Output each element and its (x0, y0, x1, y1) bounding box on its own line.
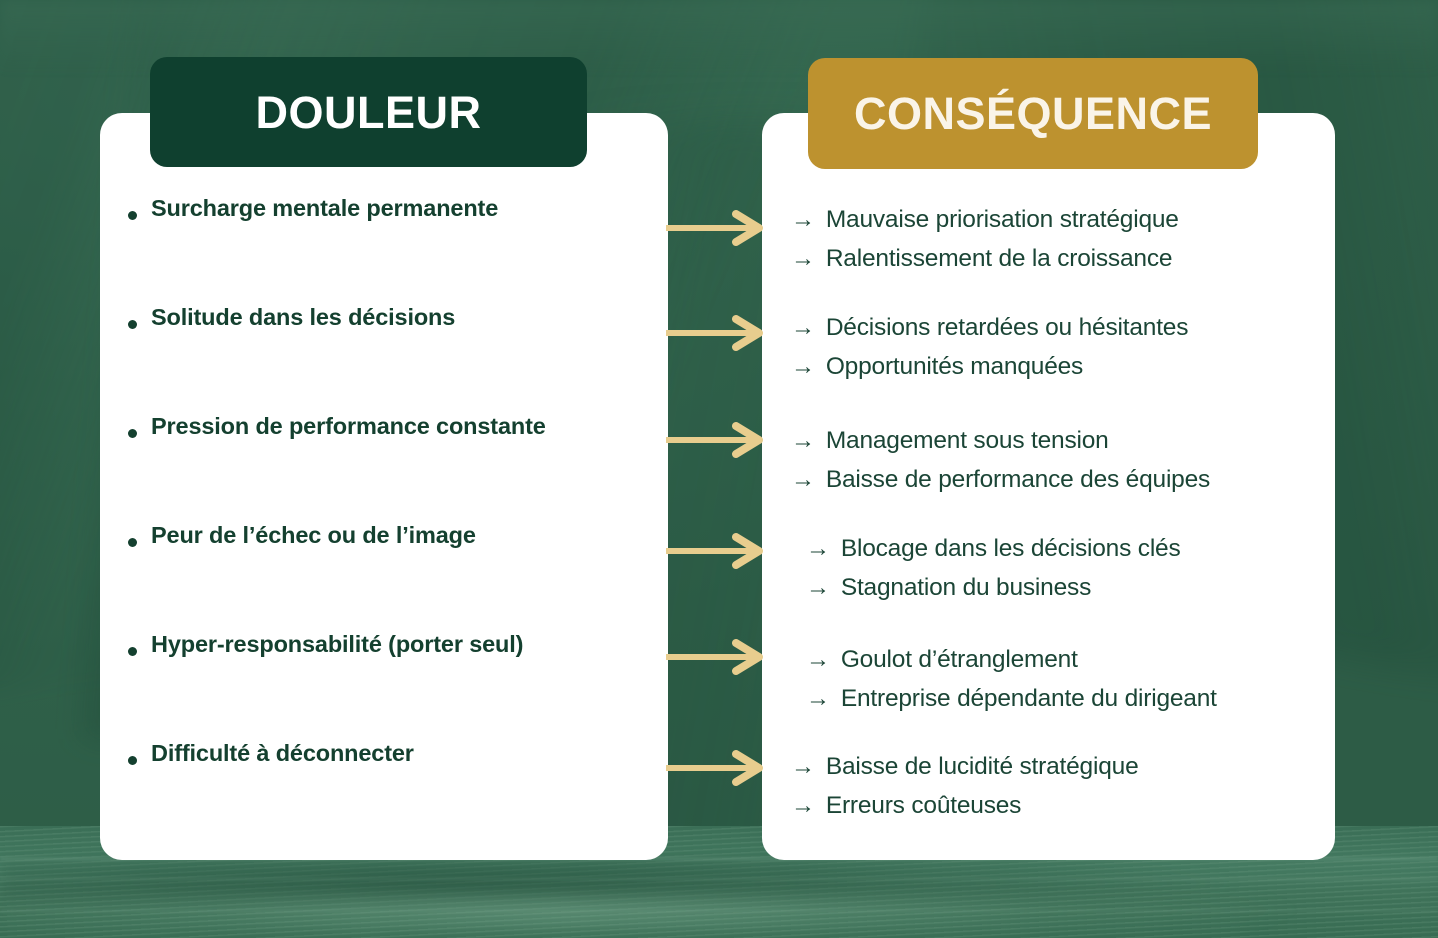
pain-item: Hyper-responsabilité (porter seul) (128, 632, 668, 741)
consequence-text: Ralentissement de la croissance (826, 239, 1173, 278)
arrow-right-icon: → (791, 460, 815, 499)
consequence-line: →Stagnation du business (806, 568, 1181, 607)
consequence-text: Baisse de performance des équipes (826, 460, 1210, 499)
consequence-line: →Blocage dans les décisions clés (806, 529, 1181, 568)
pain-item-label: Pression de performance constante (151, 414, 546, 440)
connector-arrow (666, 426, 759, 454)
pain-item-label: Hyper-responsabilité (porter seul) (151, 632, 523, 658)
consequence-text: Stagnation du business (841, 568, 1091, 607)
consequence-text: Blocage dans les décisions clés (841, 529, 1181, 568)
consequence-text: Opportunités manquées (826, 347, 1083, 386)
bullet-icon (128, 211, 137, 220)
consequence-line: →Baisse de performance des équipes (791, 460, 1210, 499)
connector-arrow (666, 214, 759, 242)
arrow-right-icon: → (791, 200, 815, 239)
pain-item: Surcharge mentale permanente (128, 196, 668, 305)
bullet-icon (128, 647, 137, 656)
consequence-line: →Management sous tension (791, 421, 1210, 460)
pain-item: Difficulté à déconnecter (128, 741, 668, 850)
connector-arrow (666, 643, 759, 671)
pain-header-badge: DOULEUR (150, 57, 587, 167)
pain-item-label: Surcharge mentale permanente (151, 196, 498, 222)
pain-item: Solitude dans les décisions (128, 305, 668, 414)
arrow-right-icon: → (791, 786, 815, 825)
consequence-text: Erreurs coûteuses (826, 786, 1021, 825)
consequence-line: →Erreurs coûteuses (791, 786, 1139, 825)
consequence-text: Baisse de lucidité stratégique (826, 747, 1139, 786)
consequence-group: →Décisions retardées ou hésitantes→Oppor… (791, 308, 1188, 386)
arrow-right-icon: → (806, 529, 830, 568)
bullet-icon (128, 756, 137, 765)
arrow-right-icon: → (791, 347, 815, 386)
consequence-text: Management sous tension (826, 421, 1109, 460)
bullet-icon (128, 429, 137, 438)
pain-item-label: Difficulté à déconnecter (151, 741, 414, 767)
arrow-right-icon: → (791, 239, 815, 278)
bullet-icon (128, 320, 137, 329)
consequence-line: →Ralentissement de la croissance (791, 239, 1179, 278)
consequence-line: →Entreprise dépendante du dirigeant (806, 679, 1217, 718)
consequence-group: →Goulot d’étranglement→Entreprise dépend… (806, 640, 1217, 718)
consequence-line: →Opportunités manquées (791, 347, 1188, 386)
consequence-header-label: CONSÉQUENCE (854, 91, 1212, 136)
consequence-group: →Blocage dans les décisions clés→Stagnat… (806, 529, 1181, 607)
pain-item-label: Peur de l’échec ou de l’image (151, 523, 476, 549)
bullet-icon (128, 538, 137, 547)
arrow-right-icon: → (806, 640, 830, 679)
connector-arrow (666, 754, 759, 782)
consequence-group: →Mauvaise priorisation stratégique→Ralen… (791, 200, 1179, 278)
consequence-text: Entreprise dépendante du dirigeant (841, 679, 1217, 718)
consequence-text: Mauvaise priorisation stratégique (826, 200, 1179, 239)
connector-arrow (666, 319, 759, 347)
consequence-line: →Décisions retardées ou hésitantes (791, 308, 1188, 347)
pain-item: Peur de l’échec ou de l’image (128, 523, 668, 632)
consequence-text: Goulot d’étranglement (841, 640, 1078, 679)
consequence-header-badge: CONSÉQUENCE (808, 58, 1258, 169)
consequence-group: →Baisse de lucidité stratégique→Erreurs … (791, 747, 1139, 825)
consequence-line: →Goulot d’étranglement (806, 640, 1217, 679)
consequence-group: →Management sous tension→Baisse de perfo… (791, 421, 1210, 499)
consequence-text: Décisions retardées ou hésitantes (826, 308, 1188, 347)
consequence-line: →Baisse de lucidité stratégique (791, 747, 1139, 786)
arrow-right-icon: → (806, 568, 830, 607)
pain-item-label: Solitude dans les décisions (151, 305, 455, 331)
arrow-right-icon: → (791, 747, 815, 786)
arrow-right-icon: → (791, 421, 815, 460)
pain-header-label: DOULEUR (256, 90, 482, 135)
pain-item: Pression de performance constante (128, 414, 668, 523)
connector-arrow (666, 537, 759, 565)
pain-list: Surcharge mentale permanenteSolitude dan… (128, 196, 668, 850)
arrow-right-icon: → (791, 308, 815, 347)
arrow-right-icon: → (806, 679, 830, 718)
consequence-line: →Mauvaise priorisation stratégique (791, 200, 1179, 239)
infographic-canvas: DOULEUR CONSÉQUENCE Surcharge mentale pe… (0, 0, 1438, 938)
